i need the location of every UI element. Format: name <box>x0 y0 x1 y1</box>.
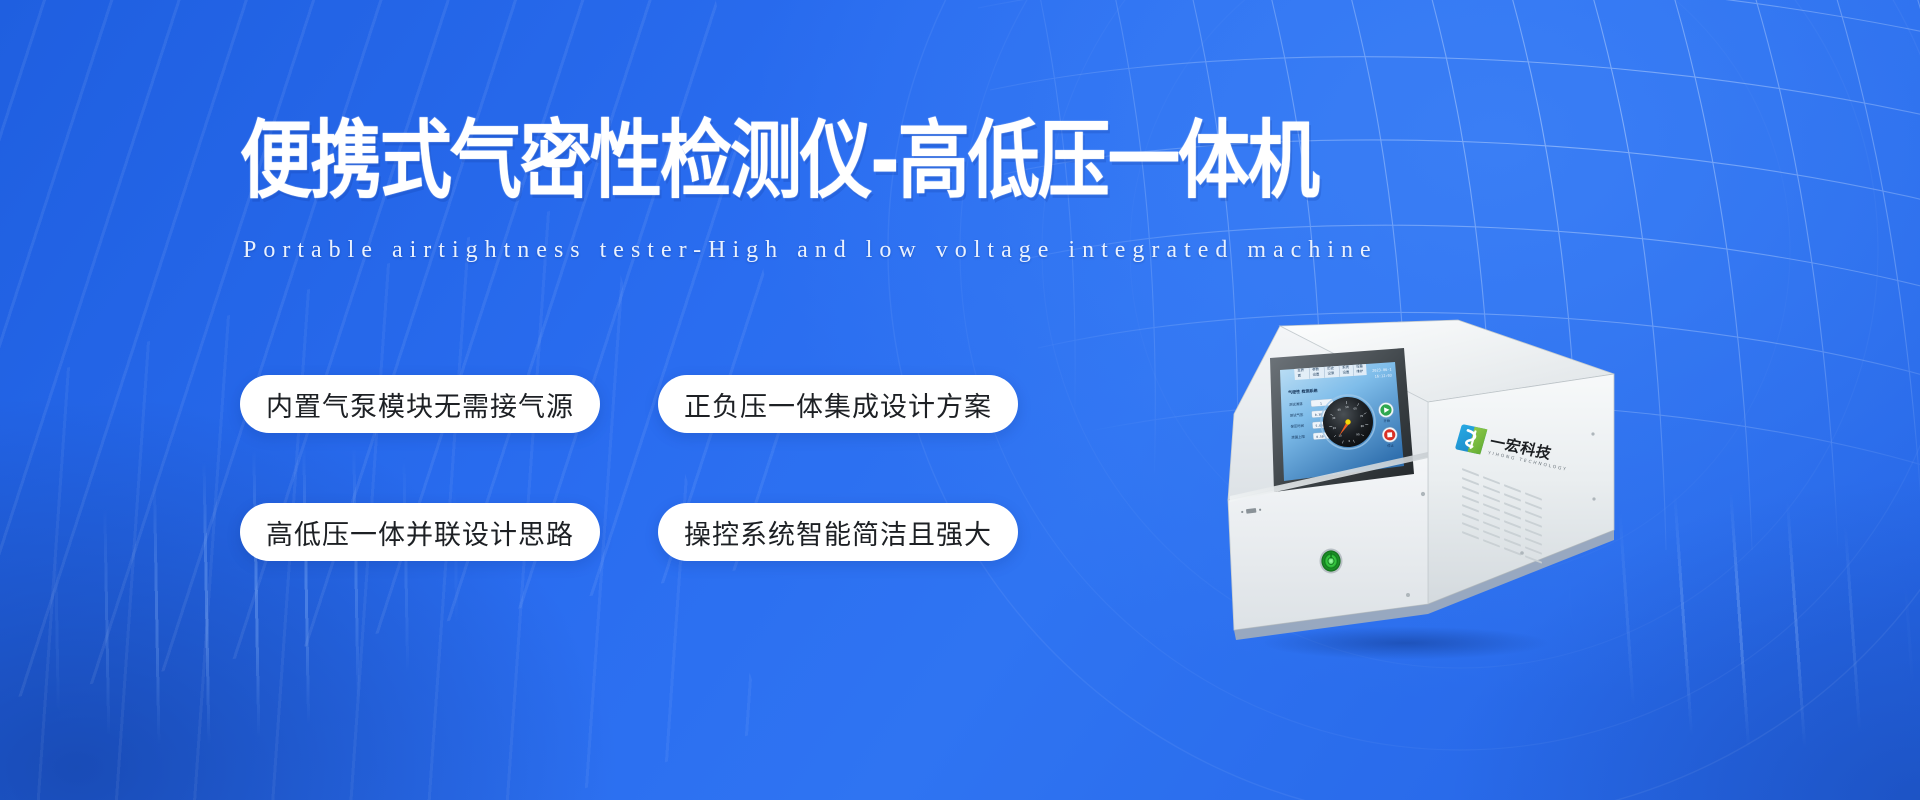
page-subtitle: Portable airtightness tester-High and lo… <box>243 237 1378 264</box>
feature-pill-row: 内置气泵模块无需接气源 正负压一体集成设计方案 <box>240 375 940 433</box>
svg-text:设置: 设置 <box>1312 371 1320 377</box>
svg-text:维护: 维护 <box>1356 368 1364 374</box>
feature-pill[interactable]: 操控系统智能简洁且强大 <box>658 503 1018 561</box>
product-device-image: 主界面 参数设置 历史记录 系统设置 设备维护 <box>1190 318 1620 668</box>
page-title: 便携式气密性检测仪-高低压一体机 <box>240 118 1318 203</box>
feature-pill-list: 内置气泵模块无需接气源 正负压一体集成设计方案 高低压一体并联设计思路 操控系统… <box>240 375 940 561</box>
svg-text:测试气压: 测试气压 <box>1290 412 1304 418</box>
hero-banner: 便携式气密性检测仪-高低压一体机 Portable airtightness t… <box>0 0 1920 800</box>
svg-text:20: 20 <box>1333 426 1337 430</box>
headline-block: 便携式气密性检测仪-高低压一体机 <box>240 118 1318 190</box>
feature-pill-row: 高低压一体并联设计思路 操控系统智能简洁且强大 <box>240 503 940 561</box>
device-screen: 主界面 参数设置 历史记录 系统设置 设备维护 <box>1270 348 1414 492</box>
svg-text:测试通道: 测试通道 <box>1289 401 1303 407</box>
svg-text:60: 60 <box>1353 406 1357 410</box>
svg-text:停止: 停止 <box>1387 443 1395 448</box>
svg-text:开始: 开始 <box>1383 418 1391 423</box>
banner-content: 便携式气密性检测仪-高低压一体机 Portable airtightness t… <box>0 0 1920 800</box>
svg-text:30: 30 <box>1332 416 1336 420</box>
svg-text:50: 50 <box>1345 405 1349 409</box>
svg-text:记录: 记录 <box>1327 370 1335 376</box>
svg-text:保压时间: 保压时间 <box>1290 423 1304 429</box>
feature-pill[interactable]: 高低压一体并联设计思路 <box>240 503 600 561</box>
feature-pill[interactable]: 内置气泵模块无需接气源 <box>240 375 600 433</box>
feature-pill[interactable]: 正负压一体集成设计方案 <box>658 375 1018 433</box>
svg-text:设置: 设置 <box>1342 369 1350 375</box>
svg-text:80: 80 <box>1361 424 1365 428</box>
power-button <box>1320 549 1343 574</box>
svg-text:70: 70 <box>1360 414 1364 418</box>
svg-text:0.50: 0.50 <box>1316 434 1324 439</box>
svg-text:40: 40 <box>1337 407 1341 411</box>
svg-text:90: 90 <box>1356 432 1360 436</box>
svg-text:泄漏上限: 泄漏上限 <box>1291 434 1305 440</box>
